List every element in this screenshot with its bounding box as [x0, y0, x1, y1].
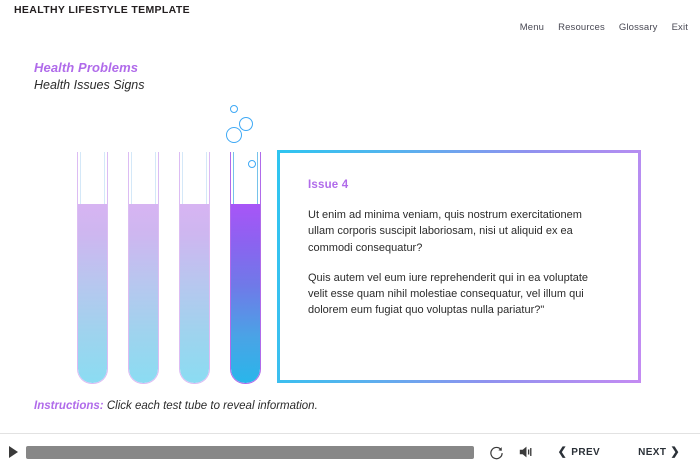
next-button-label: NEXT: [638, 447, 666, 458]
next-button[interactable]: NEXT ❯: [632, 447, 686, 458]
volume-button[interactable]: [510, 434, 544, 470]
test-tube-2[interactable]: [128, 152, 159, 384]
tube-liquid: [78, 204, 107, 383]
nav-resources[interactable]: Resources: [558, 22, 605, 33]
instructions-text: Click each test tube to reveal informati…: [104, 400, 318, 412]
info-card: Issue 4 Ut enim ad minima veniam, quis n…: [277, 150, 641, 383]
top-navigation: Menu Resources Glossary Exit: [520, 22, 688, 33]
test-tube-1[interactable]: [77, 152, 108, 384]
slide-canvas: HEALTHY LIFESTYLE TEMPLATE Menu Resource…: [0, 0, 700, 470]
play-button[interactable]: [0, 434, 26, 470]
prev-button[interactable]: ❮ PREV: [552, 447, 606, 458]
test-tube-3[interactable]: [179, 152, 210, 384]
bubble-icon: [239, 117, 253, 131]
tube-glass: [230, 152, 261, 384]
tube-liquid: [129, 204, 158, 383]
chevron-left-icon: ❮: [558, 447, 568, 458]
tube-liquid: [180, 204, 209, 383]
replay-icon: [489, 445, 504, 460]
seek-bar[interactable]: [26, 446, 474, 459]
tube-glass: [179, 152, 210, 384]
instructions: Instructions: Click each test tube to re…: [34, 400, 318, 412]
app-title: HEALTHY LIFESTYLE TEMPLATE: [14, 4, 190, 16]
nav-menu[interactable]: Menu: [520, 22, 544, 33]
tube-glass: [128, 152, 159, 384]
play-icon: [9, 446, 18, 458]
test-tube-4[interactable]: [230, 152, 261, 384]
replay-button[interactable]: [484, 434, 510, 470]
page-title: Health Problems: [34, 60, 138, 75]
player-controls: ❮ PREV NEXT ❯: [0, 433, 700, 470]
instructions-label: Instructions:: [34, 400, 104, 412]
volume-icon: [518, 444, 536, 460]
info-card-body: Issue 4 Ut enim ad minima veniam, quis n…: [278, 151, 640, 382]
bubble-icon: [248, 160, 256, 168]
bubble-icon: [226, 127, 242, 143]
info-card-paragraph-1: Ut enim ad minima veniam, quis nostrum e…: [308, 207, 610, 256]
chevron-right-icon: ❯: [670, 447, 680, 458]
tube-glass: [77, 152, 108, 384]
prev-button-label: PREV: [571, 447, 600, 458]
bubble-icon: [230, 105, 238, 113]
nav-exit[interactable]: Exit: [672, 22, 688, 33]
page-subtitle: Health Issues Signs: [34, 78, 144, 92]
info-card-title: Issue 4: [308, 179, 610, 191]
info-card-paragraph-2: Quis autem vel eum iure reprehenderit qu…: [308, 270, 610, 319]
nav-glossary[interactable]: Glossary: [619, 22, 658, 33]
tube-liquid: [231, 204, 260, 383]
